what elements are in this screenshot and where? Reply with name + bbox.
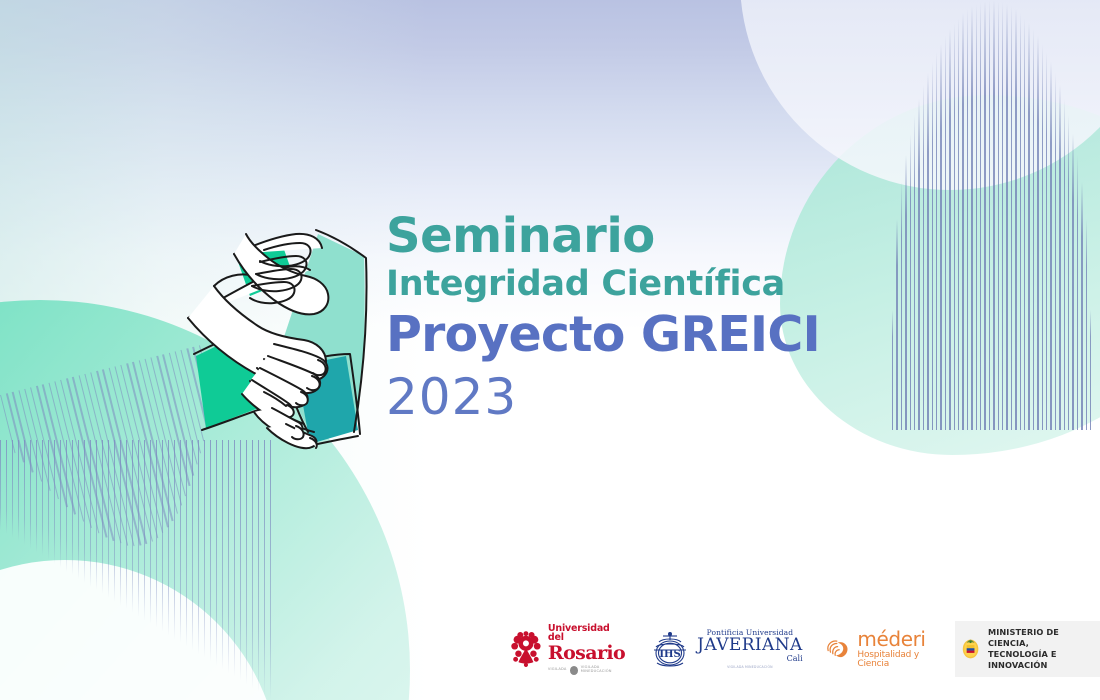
pinstripe — [174, 440, 175, 640]
pinstripe — [246, 440, 247, 685]
pinstripe — [264, 440, 265, 696]
pinstripe — [984, 1, 985, 430]
pinstripe — [204, 440, 205, 658]
pinstripe — [1064, 99, 1065, 430]
pinstripe — [971, 6, 972, 430]
pinstripe — [1086, 219, 1087, 430]
pinstripe — [42, 440, 43, 556]
pinstripe — [1028, 23, 1029, 430]
bottom-left-pinstripes — [0, 440, 330, 700]
pinstripe — [156, 440, 157, 628]
ministerio-line1: MINISTERIO DE CIENCIA, — [988, 627, 1090, 649]
pinstripe — [989, 0, 990, 430]
pinstripe — [36, 386, 68, 508]
pinstripe — [108, 440, 109, 598]
pinstripe — [72, 377, 114, 541]
svg-text:IHS: IHS — [659, 649, 680, 660]
pinstripe — [1059, 85, 1060, 430]
pinstripe — [78, 375, 121, 544]
pinstripe — [216, 440, 217, 666]
rosario-accreditation: VIGILADA VIGILADA MINEDUCACIÓN — [548, 666, 627, 675]
pinstripe — [180, 440, 181, 643]
top-right-light-wedge — [740, 0, 1100, 190]
pinstripe — [90, 372, 135, 546]
title-seminario: Seminario — [386, 212, 946, 260]
title-proyecto-greici: Proyecto GREICI — [386, 309, 946, 362]
rosario-line1: Universidad del — [548, 624, 627, 643]
pinstripe — [270, 440, 271, 700]
colombia-coat-of-arms-icon — [962, 636, 979, 662]
bottom-left-white-circle — [0, 560, 280, 700]
pinstripe — [1037, 36, 1038, 430]
pinstripe — [132, 440, 133, 613]
pinstripe — [102, 369, 147, 544]
javeriana-line3: Cali — [697, 655, 802, 663]
pinstripe — [72, 440, 73, 575]
pinstripe — [66, 440, 67, 572]
pinstripe — [192, 440, 193, 651]
pinstripe — [54, 440, 55, 564]
pinstripe — [84, 374, 128, 546]
mederi-logo: méderi Hospitalidad y Ciencia — [825, 625, 933, 673]
ministerio-line2: TECNOLOGÍA E INNOVACIÓN — [988, 649, 1090, 671]
pinstripe — [144, 440, 145, 621]
pinstripe — [30, 440, 31, 549]
pinstripe — [6, 440, 7, 534]
pinstripe — [186, 440, 187, 647]
pinstripe — [90, 440, 91, 587]
pinstripe — [222, 440, 223, 670]
pinstripe — [1042, 44, 1043, 430]
pinstripe — [234, 440, 235, 677]
pinstripe — [998, 1, 999, 430]
pinstripe — [66, 378, 107, 537]
pinstripe — [162, 440, 163, 632]
pinstripe — [96, 440, 97, 590]
pinstripe — [1050, 62, 1051, 430]
pinstripe — [1081, 182, 1082, 430]
pinstripe — [0, 440, 1, 530]
rosario-accreditation-seal-icon — [570, 666, 578, 675]
pinstripe — [1090, 310, 1091, 430]
pinstripe — [980, 2, 981, 430]
pinstripe — [60, 380, 100, 533]
pinstripe — [962, 13, 963, 430]
pinstripe — [228, 440, 229, 674]
pinstripe — [1055, 73, 1056, 430]
pinstripe — [993, 0, 994, 430]
pinstripe — [1011, 6, 1012, 430]
pinstripe — [18, 440, 19, 541]
pinstripe — [1046, 52, 1047, 430]
pinstripe — [12, 392, 33, 473]
pinstripe — [114, 366, 158, 538]
pinstripe — [36, 440, 37, 553]
mederi-wordmark: méderi — [857, 629, 932, 649]
pinstripe — [1006, 4, 1007, 430]
pinstripe — [1020, 13, 1021, 430]
javeriana-line2: JAVERIANA — [697, 637, 802, 654]
universidad-del-rosario-logo: Universidad del Rosario VIGILADA VIGILAD… — [510, 625, 627, 673]
pinstripe — [138, 440, 139, 617]
rosario-accreditation-prefix: VIGILADA — [548, 668, 567, 672]
pinstripe — [78, 440, 79, 579]
pinstripe — [114, 440, 115, 602]
pinstripe — [210, 440, 211, 662]
pinstripe — [24, 440, 25, 545]
pinstripe — [12, 440, 13, 538]
pinstripe — [96, 371, 141, 546]
pinstripe — [958, 18, 959, 430]
pinstripe — [120, 365, 163, 534]
mederi-hands-icon — [825, 635, 852, 663]
pinstripe — [42, 384, 76, 515]
pontificia-universidad-javeriana-cali-logo: IHS Pontificia Universidad JAVERIANA Cal… — [649, 625, 802, 673]
pinstripe — [240, 440, 241, 681]
pinstripe — [198, 440, 199, 655]
pinstripe — [1077, 155, 1078, 430]
pinstripe — [150, 440, 151, 624]
pinstripe — [120, 440, 121, 606]
title-block: Seminario Integridad Científica Proyecto… — [386, 212, 946, 425]
rosario-crest-icon — [510, 630, 542, 668]
pinstripe — [1015, 9, 1016, 430]
crossed-hands-illustration — [168, 216, 383, 451]
pinstripe — [976, 4, 977, 430]
ministerio-text: MINISTERIO DE CIENCIA, TECNOLOGÍA E INNO… — [988, 627, 1090, 671]
pinstripe — [84, 440, 85, 583]
rosario-line2: Rosario — [548, 644, 627, 663]
pinstripe — [0, 395, 16, 454]
pinstripe — [30, 387, 59, 499]
pinstripe — [102, 440, 103, 594]
pinstripe — [168, 440, 169, 636]
pinstripe — [252, 440, 253, 689]
javeriana-footnote: VIGILADA MINEDUCACIÓN — [697, 666, 802, 669]
pinstripe — [48, 383, 84, 522]
pinstripe — [967, 9, 968, 430]
pinstripe — [108, 368, 153, 542]
title-integridad: Integridad Científica — [386, 264, 946, 305]
pinstripe — [954, 23, 955, 430]
pinstripe — [1024, 18, 1025, 430]
pinstripe — [126, 440, 127, 609]
pinstripe — [258, 440, 259, 692]
seminar-title-slide: Seminario Integridad Científica Proyecto… — [0, 0, 1100, 700]
pinstripe — [1072, 134, 1073, 430]
javeriana-crest-icon: IHS — [649, 629, 691, 669]
pinstripe — [1068, 115, 1069, 430]
pinstripe — [1033, 29, 1034, 430]
pinstripe — [54, 381, 92, 528]
ministerio-de-ciencia-tecnologia-e-innovacion-logo: MINISTERIO DE CIENCIA, TECNOLOGÍA E INNO… — [955, 621, 1100, 677]
pinstripe — [18, 390, 42, 481]
pinstripe — [1002, 2, 1003, 430]
mederi-tagline: Hospitalidad y Ciencia — [857, 651, 932, 669]
pinstripe — [60, 440, 61, 568]
title-year: 2023 — [386, 370, 946, 425]
pinstripe — [949, 29, 950, 430]
pinstripe — [126, 363, 168, 527]
sponsor-logo-bar: Universidad del Rosario VIGILADA VIGILAD… — [510, 618, 1100, 680]
rosario-accreditation-text: VIGILADA MINEDUCACIÓN — [581, 666, 627, 673]
pinstripe — [48, 440, 49, 560]
pinstripe — [6, 393, 25, 463]
pinstripe — [24, 389, 51, 491]
